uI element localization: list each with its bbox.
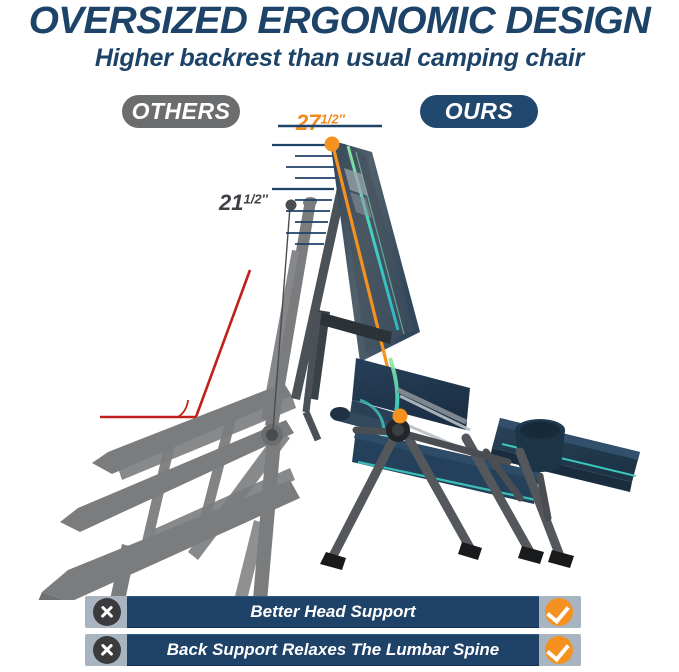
comparison-row: Back Support Relaxes The Lumbar Spine xyxy=(85,634,581,666)
check-icon xyxy=(545,598,573,626)
ours-chair-illustration xyxy=(291,140,640,570)
comparison-row-label: Better Head Support xyxy=(127,596,539,628)
chair-comparison-illustration xyxy=(0,100,679,600)
others-recline-angle-indicator xyxy=(100,270,250,417)
ours-measure-dot-bottom xyxy=(393,409,408,424)
others-measure-dot-bottom xyxy=(267,429,277,439)
page-title: OVERSIZED ERGONOMIC DESIGN xyxy=(0,1,679,41)
comparison-row-label: Back Support Relaxes The Lumbar Spine xyxy=(127,634,539,666)
comparison-row: Better Head Support xyxy=(85,596,581,628)
ours-measure-dot-top xyxy=(325,137,340,152)
infographic-canvas: OVERSIZED ERGONOMIC DESIGN Higher backre… xyxy=(0,0,679,671)
cross-icon xyxy=(93,636,121,664)
cross-icon xyxy=(93,598,121,626)
chair-feet xyxy=(320,542,574,570)
others-measure-dot-top xyxy=(286,200,297,211)
comparison-rows: Better Head Support Back Support Relaxes… xyxy=(85,596,581,672)
check-icon xyxy=(545,636,573,664)
page-subtitle: Higher backrest than usual camping chair xyxy=(0,44,679,72)
